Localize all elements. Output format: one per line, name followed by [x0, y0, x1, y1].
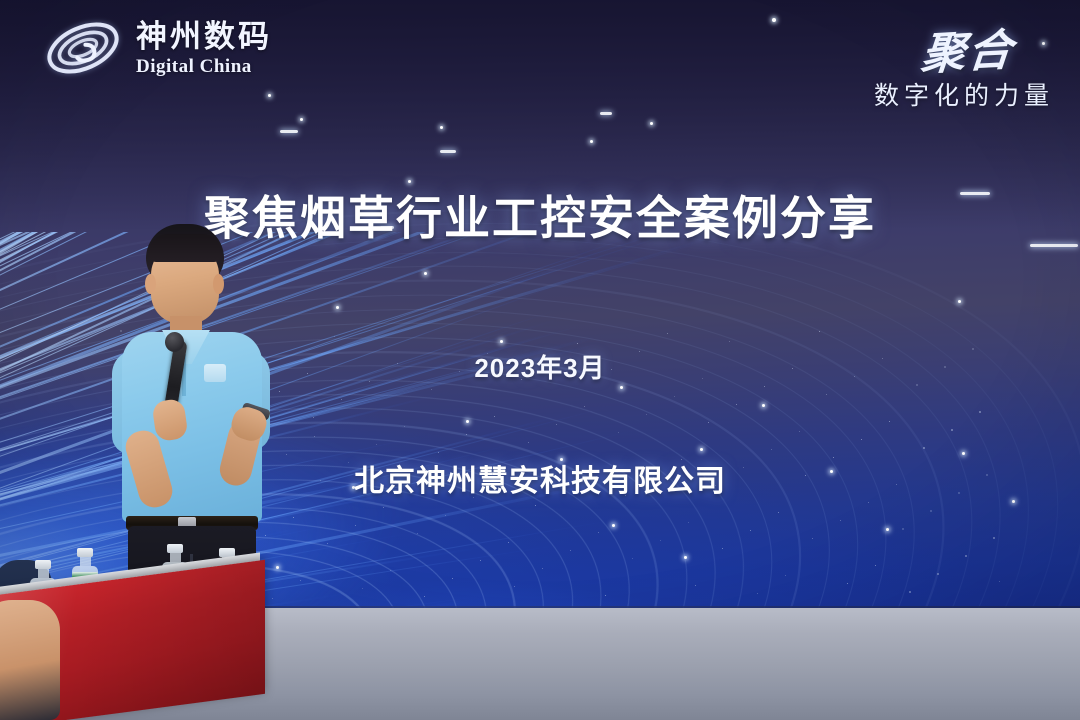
sparkle-particle	[590, 140, 593, 143]
sparkle-particle	[958, 300, 961, 303]
bottle-cap	[167, 544, 183, 553]
sparkle-particle	[962, 452, 965, 455]
sparkle-particle	[612, 524, 615, 527]
sparkle-particle	[762, 404, 765, 407]
sparkle-particle	[1012, 500, 1015, 503]
sparkle-particle	[500, 340, 503, 343]
sparkle-particle	[424, 272, 427, 275]
bottle-cap	[77, 548, 93, 557]
bottle-neck	[38, 569, 49, 578]
speaker-ear-left	[145, 274, 156, 294]
sparkle-particle	[772, 18, 776, 22]
brand-name-cn: 神州数码	[136, 21, 272, 52]
screenshot-root: 神州数码 Digital China 聚合 数字化的力量 聚焦烟草行业工控安全案…	[0, 0, 1080, 720]
brand-name-en: Digital China	[136, 57, 272, 76]
sparkle-particle	[268, 94, 271, 97]
speaker-fringe	[148, 234, 222, 262]
light-dash-particle	[440, 150, 456, 153]
sparkle-particle	[336, 306, 339, 309]
event-logo-subtitle: 数字化的力量	[874, 76, 1054, 112]
sparkle-particle	[620, 386, 623, 389]
sparkle-particle	[700, 448, 703, 451]
sparkle-particle	[650, 122, 653, 125]
sparkle-particle	[684, 556, 687, 559]
digital-china-wordmark: 神州数码 Digital China	[136, 21, 272, 76]
bottle-neck	[170, 553, 181, 562]
speaker-shirt-logo-patch	[204, 364, 226, 382]
bottle-cap	[35, 560, 51, 569]
sparkle-particle	[886, 528, 889, 531]
foreground-attendee	[0, 600, 60, 720]
digital-china-logo: 神州数码 Digital China	[42, 14, 272, 82]
sparkle-particle	[466, 420, 469, 423]
light-dash-particle	[280, 130, 298, 133]
digital-china-swirl-icon	[42, 14, 124, 82]
event-logo-brush-text: 聚合	[919, 14, 1017, 83]
sparkle-particle	[300, 118, 303, 121]
speaker-ear-right	[213, 274, 224, 294]
event-logo: 聚合 数字化的力量	[874, 16, 1054, 112]
sparkle-particle	[440, 126, 443, 129]
light-dash-particle	[600, 112, 612, 115]
bottle-neck	[80, 557, 91, 566]
